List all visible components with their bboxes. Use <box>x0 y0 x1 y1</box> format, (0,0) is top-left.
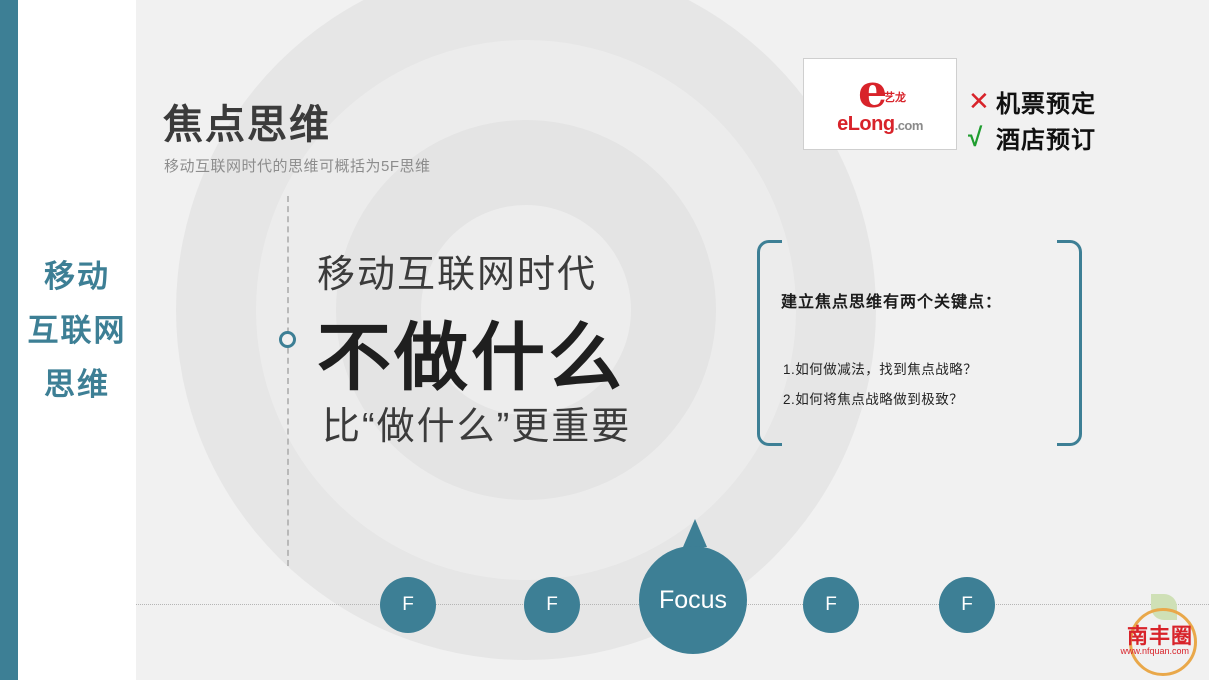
sidebar-label-line-2: 互联网 <box>18 304 136 358</box>
mark-row-flight: ✕ 机票预定 <box>968 84 1096 119</box>
timeline-node-2[interactable]: F <box>524 577 580 633</box>
key-point-item-2: 2.如何将焦点战略做到极致？ <box>783 388 1073 408</box>
timeline-node-5[interactable]: F <box>939 577 995 633</box>
mark-row-hotel: √ 酒店预订 <box>968 120 1096 155</box>
cross-icon: ✕ <box>968 86 996 117</box>
elong-logo-mark: e 艺龙 <box>850 73 910 117</box>
timeline-node-focus[interactable]: Focus <box>639 546 747 654</box>
key-point-item-1: 1.如何做减法，找到焦点战略？ <box>783 358 1073 378</box>
sidebar-label-line-1: 移动 <box>18 250 136 304</box>
timeline-node-1[interactable]: F <box>380 577 436 633</box>
vertical-dashed-line <box>287 196 289 566</box>
key-points-panel: 建立焦点思维有两个关键点： 1.如何做减法，找到焦点战略？ 2.如何将焦点战略做… <box>757 240 1082 440</box>
sidebar-label: 移动 互联网 思维 <box>18 250 136 412</box>
watermark: 南丰圈 www.nfquan.com <box>1079 594 1199 674</box>
watermark-url: www.nfquan.com <box>1120 646 1189 656</box>
elong-logo-cn: 艺龙 <box>884 89 906 105</box>
bracket-right-icon <box>1057 240 1082 446</box>
statement-line-3: 比“做什么”更重要 <box>322 395 631 450</box>
statement-line-1: 移动互联网时代 <box>317 243 597 298</box>
mark-label-flight: 机票预定 <box>996 84 1096 119</box>
elong-e-icon: e <box>858 69 887 113</box>
sidebar-label-line-3: 思维 <box>18 358 136 412</box>
bracket-left-icon <box>757 240 782 446</box>
elong-logo: e 艺龙 eLong.com <box>803 58 957 150</box>
key-points-title: 建立焦点思维有两个关键点： <box>781 288 1071 312</box>
page-subtitle: 移动互联网时代的思维可概括为5F思维 <box>164 155 431 176</box>
statement-line-2: 不做什么 <box>317 298 625 405</box>
timeline-marker-dot <box>279 331 296 348</box>
check-icon: √ <box>968 122 996 153</box>
slide-canvas: 移动 互联网 思维 焦点思维 移动互联网时代的思维可概括为5F思维 e 艺龙 e… <box>0 0 1209 680</box>
page-title: 焦点思维 <box>163 92 331 150</box>
mark-label-hotel: 酒店预订 <box>996 120 1096 155</box>
elong-wordmark-suffix: .com <box>895 118 923 133</box>
focus-pointer-icon <box>683 519 707 547</box>
timeline-node-4[interactable]: F <box>803 577 859 633</box>
left-accent-bar <box>0 0 18 680</box>
